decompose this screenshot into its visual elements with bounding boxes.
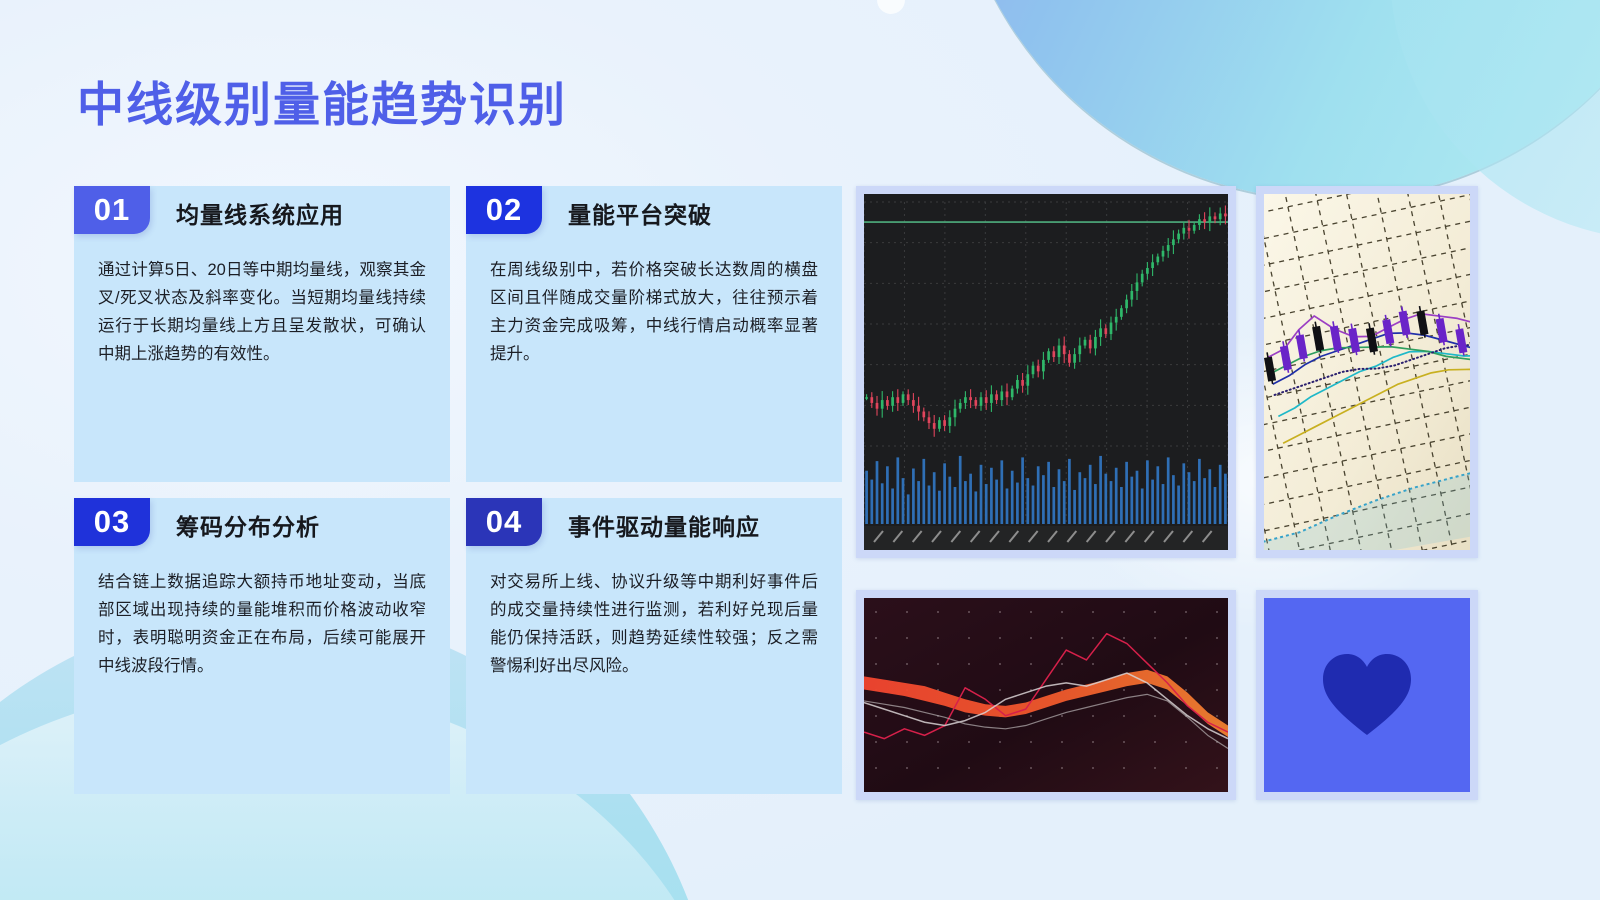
card-body-text: 在周线级别中，若价格突破长达数周的横盘区间且伴随成交量阶梯式放大，往往预示着主力… [490, 256, 818, 368]
media-panel-heart[interactable] [1256, 590, 1478, 800]
momentum-chart-svg [864, 598, 1228, 792]
heart-icon [1319, 651, 1415, 739]
feature-card-grid: 01 均量线系统应用 通过计算5日、20日等中期均量线，观察其金叉/死叉状态及斜… [74, 186, 842, 800]
card-header: 02 量能平台突破 [466, 186, 842, 234]
page-title: 中线级别量能趋势识别 [77, 66, 567, 135]
card-title: 筹码分布分析 [176, 508, 320, 542]
candlestick-chart-svg [864, 194, 1228, 550]
heart-tile-wrapper [1264, 598, 1470, 792]
card-title: 事件驱动量能响应 [568, 508, 760, 542]
card-title: 均量线系统应用 [176, 196, 344, 230]
card-header: 01 均量线系统应用 [74, 186, 450, 234]
media-panel-technical[interactable] [1256, 186, 1478, 558]
heart-tile [1264, 598, 1470, 792]
feature-card-02[interactable]: 02 量能平台突破 在周线级别中，若价格突破长达数周的横盘区间且伴随成交量阶梯式… [466, 186, 842, 482]
card-body-text: 结合链上数据追踪大额持币地址变动，当底部区域出现持续的量能堆积而价格波动收窄时，… [98, 568, 426, 680]
card-header: 03 筹码分布分析 [74, 498, 450, 546]
card-title: 量能平台突破 [568, 196, 712, 230]
media-panel-candlestick[interactable] [856, 186, 1236, 558]
card-body-text: 通过计算5日、20日等中期均量线，观察其金叉/死叉状态及斜率变化。当短期均量线持… [98, 256, 426, 368]
media-panel-momentum[interactable] [856, 590, 1236, 800]
card-number-badge: 03 [74, 498, 150, 546]
slide-root: 中线级别量能趋势识别 01 均量线系统应用 通过计算5日、20日等中期均量线，观… [0, 0, 1600, 900]
momentum-ribbon-chart [864, 598, 1228, 792]
card-number-badge: 02 [466, 186, 542, 234]
feature-card-03[interactable]: 03 筹码分布分析 结合链上数据追踪大额持币地址变动，当底部区域出现持续的量能堆… [74, 498, 450, 794]
card-body-text: 对交易所上线、协议升级等中期利好事件后的成交量持续性进行监测，若利好兑现后量能仍… [490, 568, 818, 680]
technical-indicator-chart [1264, 194, 1470, 550]
candlestick-volume-chart [864, 194, 1228, 550]
card-number-badge: 04 [466, 498, 542, 546]
feature-card-01[interactable]: 01 均量线系统应用 通过计算5日、20日等中期均量线，观察其金叉/死叉状态及斜… [74, 186, 450, 482]
card-header: 04 事件驱动量能响应 [466, 498, 842, 546]
feature-card-04[interactable]: 04 事件驱动量能响应 对交易所上线、协议升级等中期利好事件后的成交量持续性进行… [466, 498, 842, 794]
technical-chart-svg [1264, 194, 1470, 550]
card-number-badge: 01 [74, 186, 150, 234]
